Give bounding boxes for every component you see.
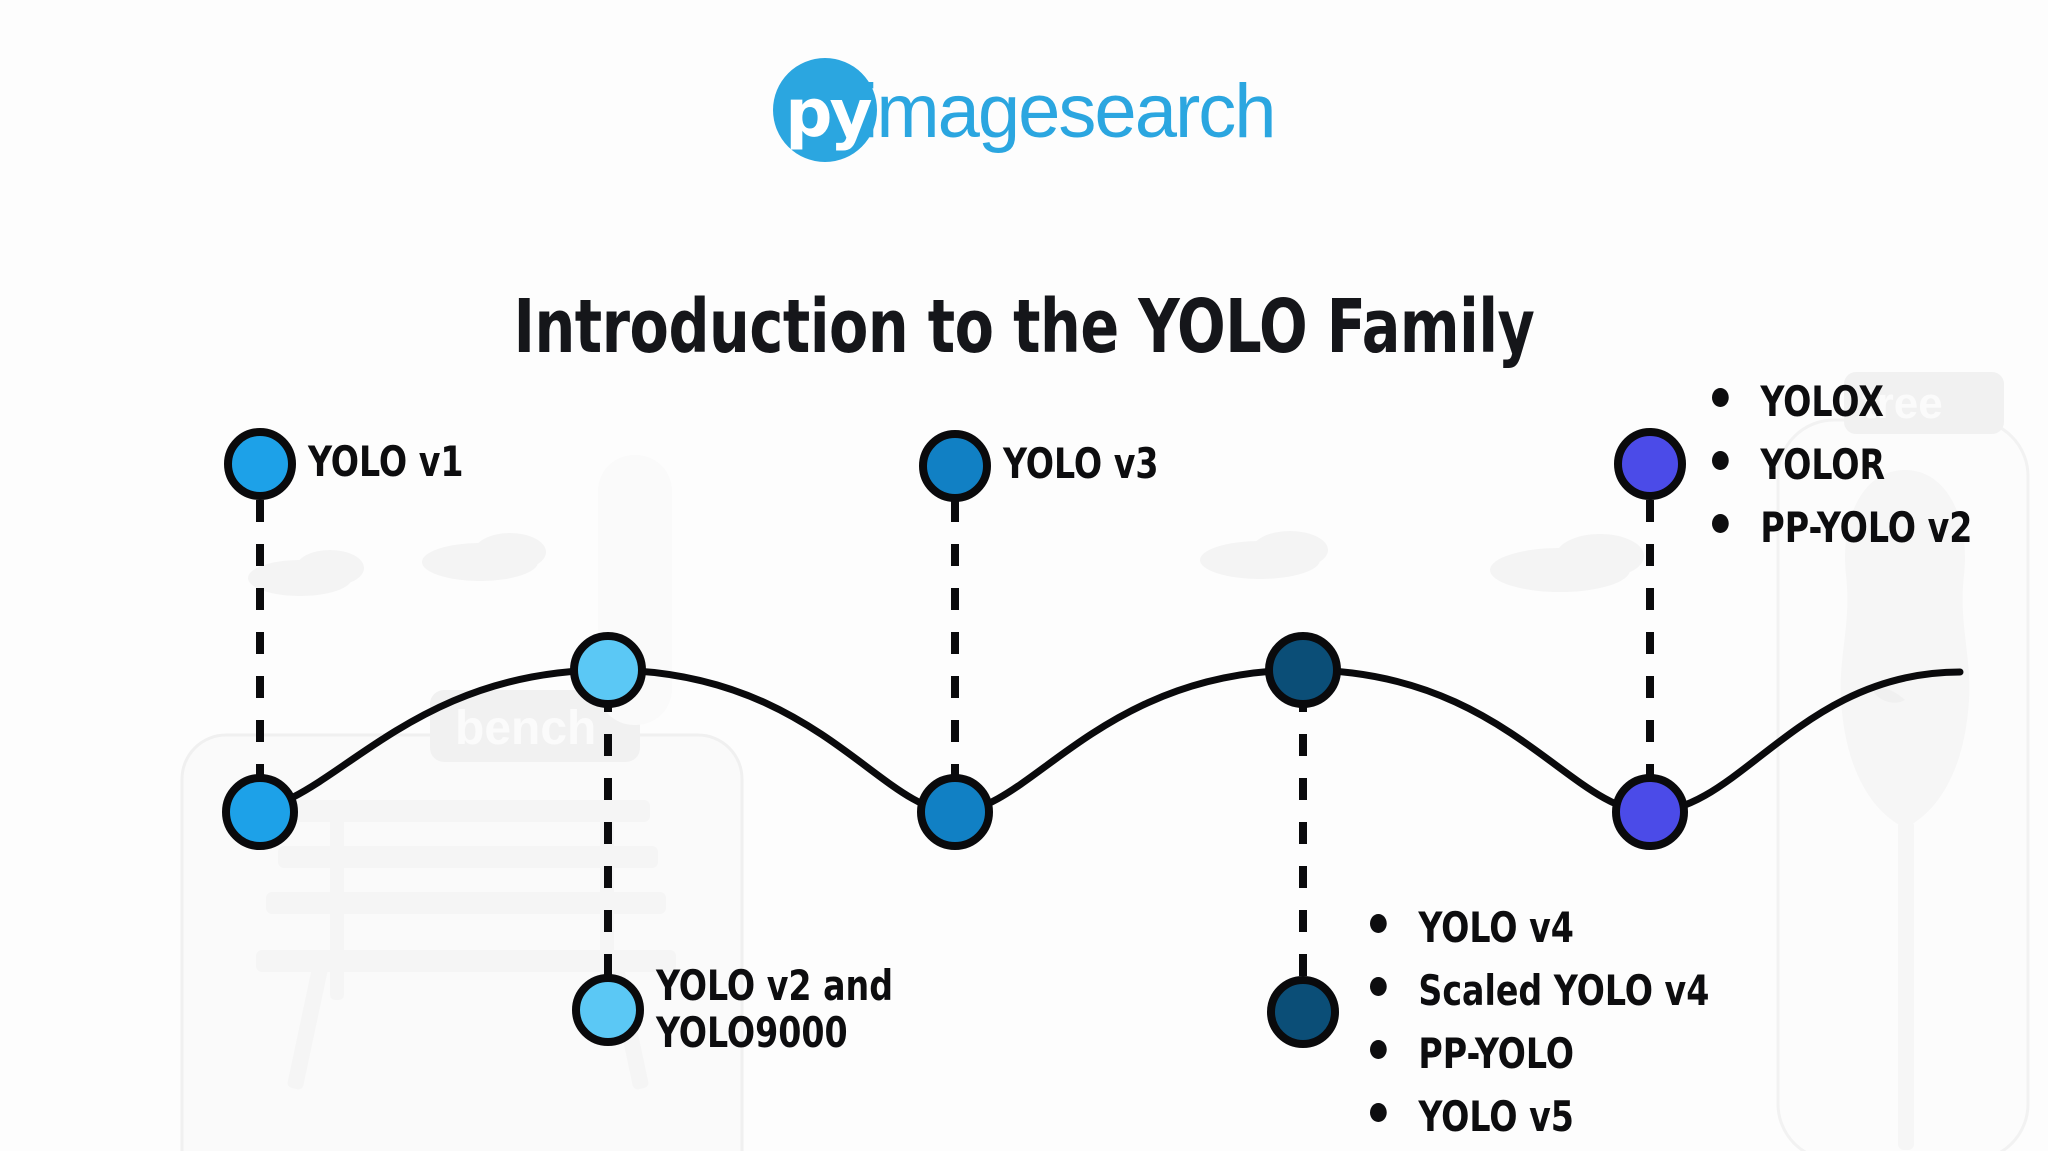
bullet-group-yolox: YOLOX YOLOR PP-YOLO v2 [1712, 378, 1972, 567]
bullet-dot-icon [1370, 1040, 1387, 1059]
slide-canvas: bench tree [0, 0, 2048, 1151]
node-yolo-v3-on-curve[interactable] [921, 778, 989, 846]
label-yolo-v3: YOLO v3 [1003, 440, 1159, 487]
wave-curve [240, 670, 1960, 812]
label-yolo-v1: YOLO v1 [308, 438, 464, 485]
timeline-wave-chart [0, 0, 2048, 1151]
bullet-label: YOLOR [1760, 441, 1885, 488]
marker-yolo-v3[interactable] [923, 434, 987, 498]
bullet-label: Scaled YOLO v4 [1418, 967, 1709, 1014]
list-item: Scaled YOLO v4 [1370, 967, 1709, 1014]
bullet-dot-icon [1712, 388, 1729, 407]
node-yolox-on-curve[interactable] [1616, 778, 1684, 846]
bullet-dot-icon [1370, 977, 1387, 996]
node-yolo-v1-on-curve[interactable] [226, 778, 294, 846]
bullet-dot-icon [1370, 914, 1387, 933]
bullet-label: YOLO v4 [1418, 904, 1574, 951]
bullet-label: YOLO v5 [1418, 1093, 1574, 1140]
node-yolo-v2-on-curve[interactable] [574, 636, 642, 704]
list-item: YOLO v4 [1370, 904, 1709, 951]
bullet-label: YOLOX [1760, 378, 1883, 425]
bullet-dot-icon [1712, 514, 1729, 533]
marker-yolo-v2[interactable] [576, 978, 640, 1042]
bullet-group-yolo-v4: YOLO v4 Scaled YOLO v4 PP-YOLO YOLO v5 [1370, 904, 1709, 1151]
marker-yolox[interactable] [1618, 432, 1682, 496]
marker-yolo-v4[interactable] [1271, 980, 1335, 1044]
bullet-dot-icon [1712, 451, 1729, 470]
bullet-label: PP-YOLO v2 [1760, 504, 1972, 551]
list-item: YOLOR [1712, 441, 1972, 488]
logo-mark-text: py [785, 81, 869, 147]
list-item: YOLOX [1712, 378, 1972, 425]
node-yolo-v4-on-curve[interactable] [1269, 636, 1337, 704]
logo-mark-icon: py [773, 58, 877, 162]
bullet-dot-icon [1370, 1103, 1387, 1122]
marker-yolo-v1[interactable] [228, 432, 292, 496]
list-item: YOLO v5 [1370, 1093, 1709, 1140]
list-item: PP-YOLO [1370, 1030, 1709, 1077]
list-item: PP-YOLO v2 [1712, 504, 1972, 551]
label-yolo-v2: YOLO v2 and YOLO9000 [656, 962, 893, 1056]
bullet-label: PP-YOLO [1418, 1030, 1574, 1077]
